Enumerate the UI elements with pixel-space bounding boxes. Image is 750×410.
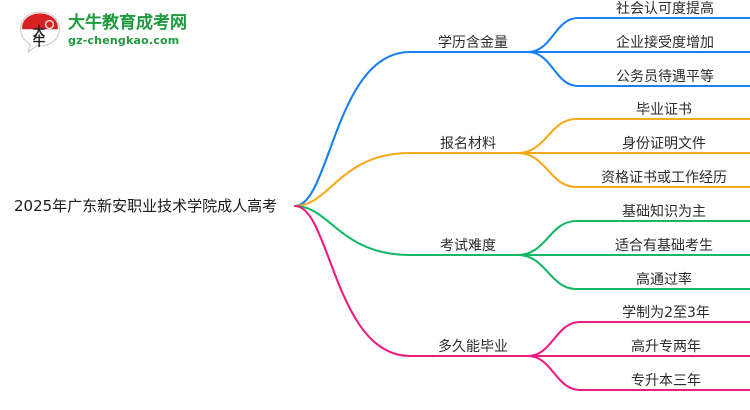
branch-node-3[interactable]: 多久能毕业 <box>418 338 528 357</box>
root-node[interactable]: 2025年广东新安职业技术学院成人高考 <box>14 196 277 216</box>
link-root-branch-1 <box>295 153 518 206</box>
branch-node-2[interactable]: 考试难度 <box>418 237 518 256</box>
branch-node-0[interactable]: 学历含金量 <box>418 34 528 53</box>
leaf-node-3-2[interactable]: 专升本三年 <box>588 372 744 391</box>
leaf-node-2-0[interactable]: 基础知识为主 <box>584 203 744 222</box>
link-root-branch-3 <box>295 206 528 356</box>
leaf-node-3-1[interactable]: 高升专两年 <box>588 338 744 357</box>
leaf-node-1-2[interactable]: 资格证书或工作经历 <box>584 169 744 188</box>
mindmap-canvas: 大 牛 大牛教育成考网 gz-chengkao.com <box>0 0 750 410</box>
leaf-node-1-1[interactable]: 身份证明文件 <box>584 135 744 154</box>
leaf-node-0-2[interactable]: 公务员待遇平等 <box>586 68 744 87</box>
leaf-node-0-0[interactable]: 社会认可度提高 <box>586 0 744 19</box>
leaf-node-1-0[interactable]: 毕业证书 <box>584 101 744 120</box>
leaf-node-3-0[interactable]: 学制为2至3年 <box>588 304 744 323</box>
leaf-node-2-1[interactable]: 适合有基础考生 <box>584 237 744 256</box>
leaf-node-0-1[interactable]: 企业接受度增加 <box>586 34 744 53</box>
link-root-branch-0 <box>295 52 528 206</box>
branch-node-1[interactable]: 报名材料 <box>418 135 518 154</box>
leaf-node-2-2[interactable]: 高通过率 <box>584 271 744 290</box>
